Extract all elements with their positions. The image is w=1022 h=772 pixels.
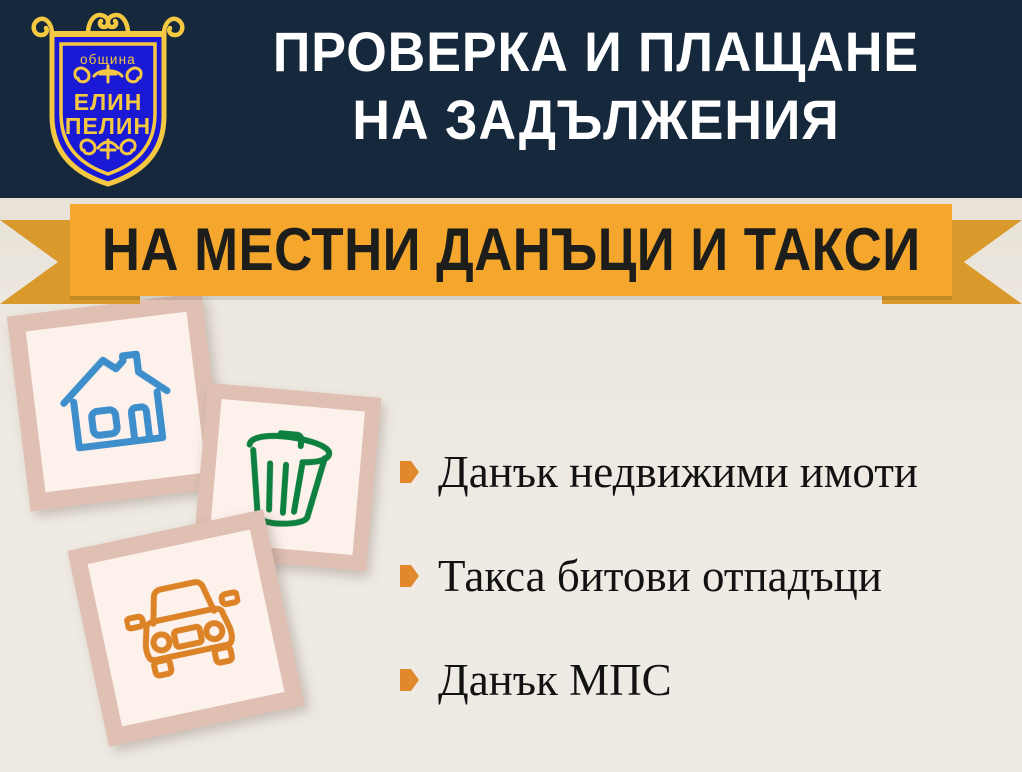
list-item-label: Такса битови отпадъци (438, 551, 882, 601)
list-item[interactable]: Данък недвижими имоти (400, 420, 1010, 524)
list-item[interactable]: Данък МПС (400, 628, 1010, 732)
house-icon (54, 345, 178, 460)
car-icon (118, 568, 254, 688)
subtitle-ribbon: НА МЕСТНИ ДАНЪЦИ И ТАКСИ (0, 200, 1022, 304)
header-bar: община ЕЛИН ПЕЛИН (0, 0, 1022, 198)
crest-line-elin: ЕЛИН (74, 89, 143, 115)
ribbon-label: НА МЕСТНИ ДАНЪЦИ И ТАКСИ (102, 219, 921, 281)
list-item-label: Данък недвижими имоти (438, 447, 918, 497)
stamp-collage (0, 300, 420, 772)
stamp-property-tax (7, 293, 225, 511)
bullet-arrow-icon (400, 565, 419, 587)
ribbon-band: НА МЕСТНИ ДАНЪЦИ И ТАКСИ (70, 204, 952, 296)
poster-title: ПРОВЕРКА И ПЛАЩАНЕ НА ЗАДЪЛЖЕНИЯ (190, 18, 1002, 154)
tax-type-list: Данък недвижими имоти Такса битови отпад… (400, 420, 1010, 732)
list-item-label: Данък МПС (438, 655, 672, 705)
poster-root: община ЕЛИН ПЕЛИН (0, 0, 1022, 772)
bullet-arrow-icon (400, 461, 419, 483)
crest-line-pelin: ПЕЛИН (65, 113, 151, 139)
stamp-vehicle-tax (67, 509, 304, 746)
bullet-arrow-icon (400, 669, 419, 691)
title-line-1: ПРОВЕРКА И ПЛАЩАНЕ (218, 18, 973, 86)
stamp-paper-car (88, 530, 285, 727)
municipality-crest: община ЕЛИН ПЕЛИН (28, 8, 188, 190)
stamp-paper-house (26, 312, 207, 493)
title-line-2: НА ЗАДЪЛЖЕНИЯ (218, 86, 973, 154)
list-item[interactable]: Такса битови отпадъци (400, 524, 1010, 628)
